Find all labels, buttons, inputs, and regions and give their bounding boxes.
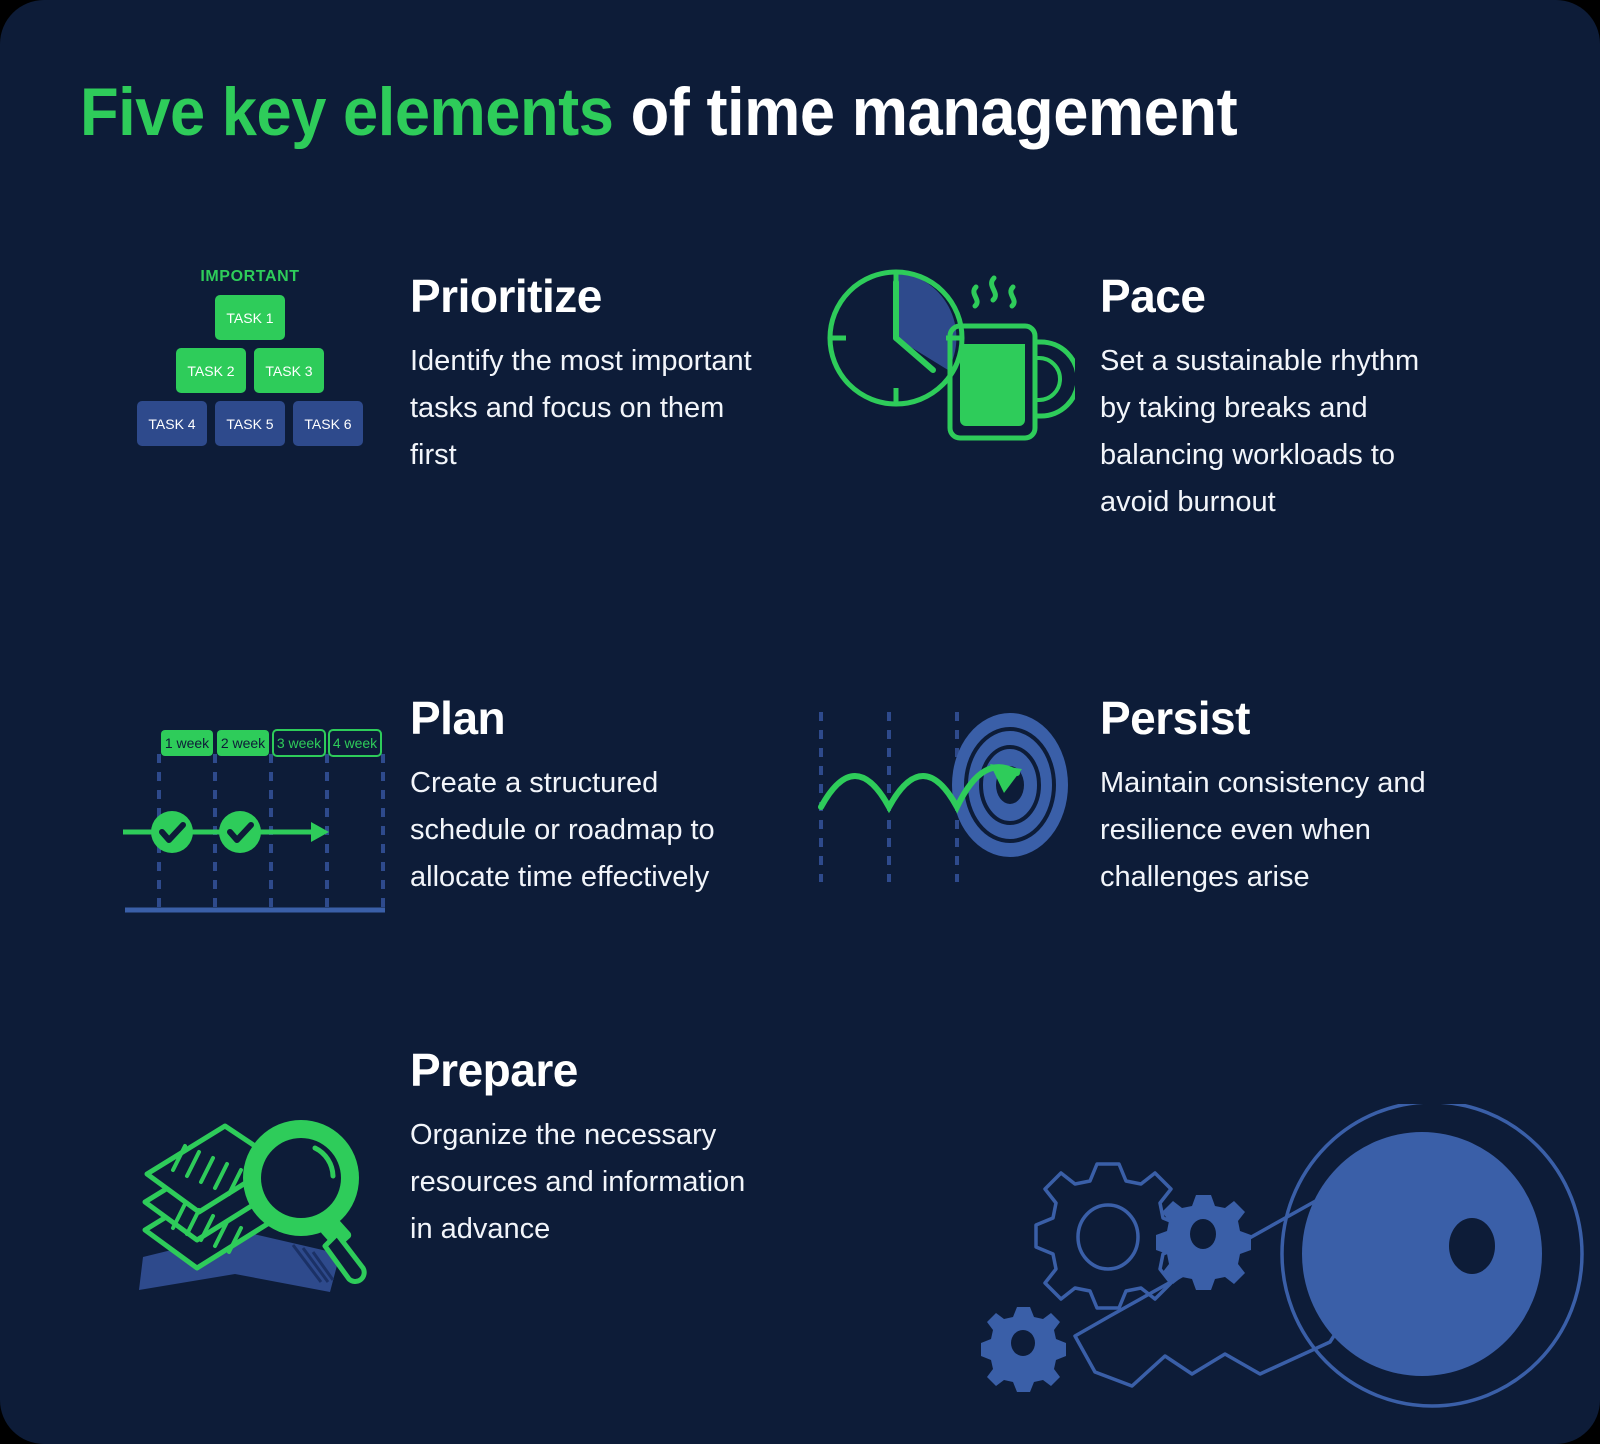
week-chip-1: 1 week	[161, 730, 213, 756]
infographic-poster: Five key elements of time management IMP…	[0, 0, 1600, 1444]
week-chip-4: 4 week	[329, 730, 381, 756]
gear-small-icon	[1156, 1195, 1251, 1290]
persist-text: Persist Maintain consistency and resilie…	[1100, 672, 1450, 901]
persist-icon-box	[780, 672, 1100, 890]
pyramid-row-3: TASK 4 TASK 5 TASK 6	[130, 401, 370, 446]
svg-text:3 week: 3 week	[277, 735, 322, 751]
pyramid-important-label: IMPORTANT	[130, 268, 370, 286]
gantt-timeline-icon: 1 week 2 week 3 week 4 week	[115, 672, 385, 932]
page-title: Five key elements of time management	[80, 78, 1237, 146]
pyramid-row-2: TASK 2 TASK 3	[130, 348, 370, 393]
item-description-prioritize: Identify the most important tasks and fo…	[410, 338, 760, 479]
milestone-check-1	[151, 811, 193, 853]
item-persist: Persist Maintain consistency and resilie…	[780, 672, 1450, 901]
prioritize-icon-box: IMPORTANT TASK 1 TASK 2 TASK 3 TASK 4 TA…	[90, 260, 410, 454]
target-bounce-icon	[805, 690, 1075, 890]
page-title-accent: Five key elements	[80, 74, 613, 150]
key-gears-decoration	[960, 1104, 1600, 1434]
milestone-check-2	[219, 811, 261, 853]
task-pyramid-icon: IMPORTANT TASK 1 TASK 2 TASK 3 TASK 4 TA…	[130, 260, 370, 454]
task-tile: TASK 2	[176, 348, 246, 393]
plan-text: Plan Create a structured schedule or roa…	[410, 672, 760, 901]
task-tile: TASK 1	[215, 295, 285, 340]
item-title-prioritize: Prioritize	[410, 272, 760, 320]
prepare-icon-box	[90, 1040, 410, 1302]
pyramid-row-1: TASK 1	[130, 295, 370, 340]
task-tile: TASK 6	[293, 401, 363, 446]
item-description-pace: Set a sustainable rhythm by taking break…	[1100, 338, 1450, 526]
documents-magnifier-icon	[125, 1082, 375, 1302]
pace-icon-box	[780, 260, 1100, 455]
task-tile: TASK 4	[137, 401, 207, 446]
gear-large-icon	[1036, 1164, 1180, 1308]
task-tile: TASK 3	[254, 348, 324, 393]
prepare-text: Prepare Organize the necessary resources…	[410, 1040, 760, 1253]
item-pace: Pace Set a sustainable rhythm by taking …	[780, 260, 1450, 526]
row-one: IMPORTANT TASK 1 TASK 2 TASK 3 TASK 4 TA…	[90, 260, 1450, 526]
pace-text: Pace Set a sustainable rhythm by taking …	[1100, 260, 1450, 526]
item-title-pace: Pace	[1100, 272, 1450, 320]
clock-coffee-icon	[805, 260, 1075, 455]
item-prioritize: IMPORTANT TASK 1 TASK 2 TASK 3 TASK 4 TA…	[90, 260, 760, 479]
svg-text:2 week: 2 week	[221, 735, 266, 751]
page-title-rest: of time management	[613, 74, 1237, 150]
week-chip-3: 3 week	[273, 730, 325, 756]
row-two: 1 week 2 week 3 week 4 week	[90, 672, 1450, 932]
item-description-prepare: Organize the necessary resources and inf…	[410, 1112, 760, 1253]
item-title-persist: Persist	[1100, 694, 1450, 742]
item-title-plan: Plan	[410, 694, 760, 742]
item-prepare: Prepare Organize the necessary resources…	[90, 1040, 760, 1302]
item-description-plan: Create a structured schedule or roadmap …	[410, 760, 760, 901]
task-tile: TASK 5	[215, 401, 285, 446]
svg-text:4 week: 4 week	[333, 735, 378, 751]
row-three: Prepare Organize the necessary resources…	[90, 1040, 760, 1302]
item-description-persist: Maintain consistency and resilience even…	[1100, 760, 1450, 901]
plan-icon-box: 1 week 2 week 3 week 4 week	[90, 672, 410, 932]
item-plan: 1 week 2 week 3 week 4 week	[90, 672, 760, 932]
prioritize-text: Prioritize Identify the most important t…	[410, 260, 760, 479]
svg-text:1 week: 1 week	[165, 735, 210, 751]
week-chip-2: 2 week	[217, 730, 269, 756]
gear-tiny-icon	[981, 1307, 1066, 1392]
item-title-prepare: Prepare	[410, 1046, 760, 1094]
